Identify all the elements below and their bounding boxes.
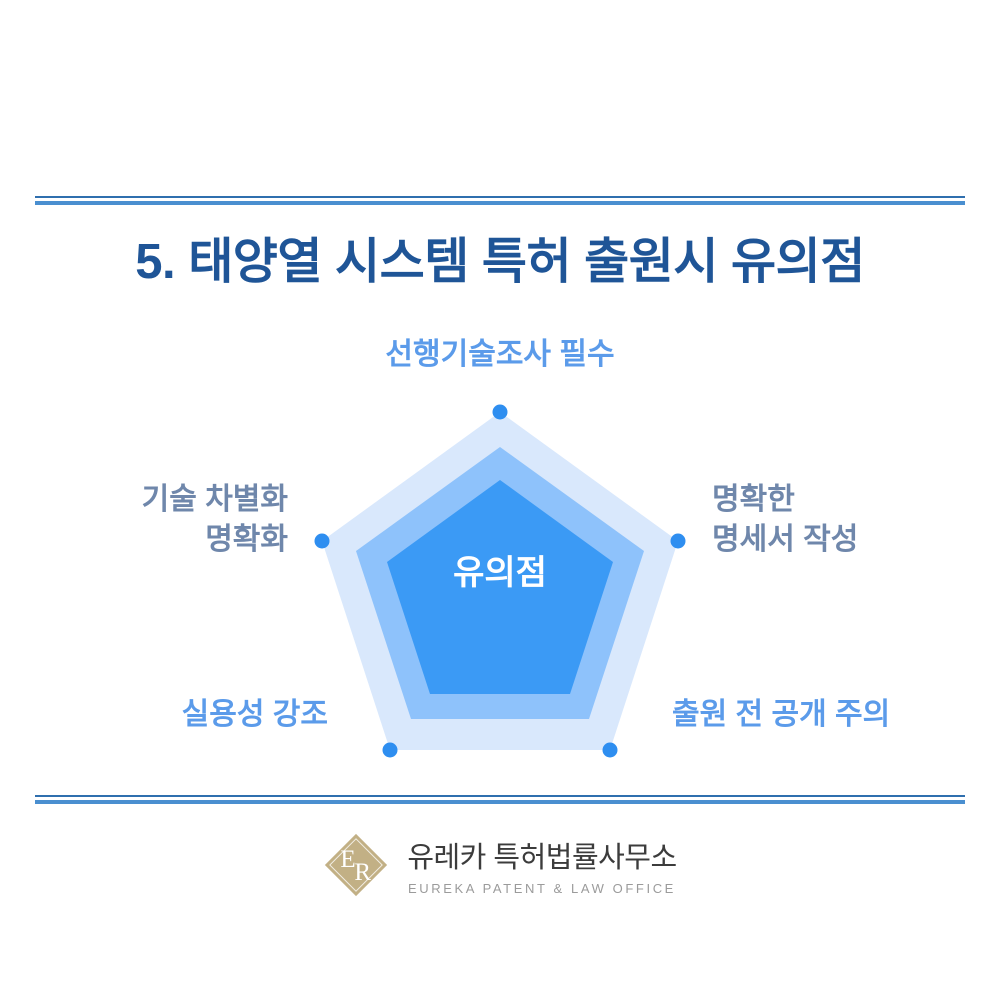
pentagon-vertex-dot-left-top (315, 534, 330, 549)
slide-canvas: 5. 태양열 시스템 특허 출원시 유의점 유의점 선행기술조사 필수 기술 차… (0, 0, 1000, 1000)
node-label-top-text: 선행기술조사 필수 (385, 338, 614, 371)
divider-bottom-thick-line (35, 800, 965, 804)
divider-top-thin-line (35, 196, 965, 198)
node-label-left-bottom-text: 실용성 강조 (182, 698, 328, 731)
pentagon-center-label: 유의점 (380, 545, 620, 594)
node-label-right-top-line1: 명확한 (712, 480, 858, 520)
company-name-en: EUREKA PATENT & LAW OFFICE (408, 881, 676, 896)
node-label-top: 선행기술조사 필수 (0, 335, 1000, 375)
footer-branding: E R 유레카 특허법률사무소 EUREKA PATENT & LAW OFFI… (0, 820, 1000, 910)
divider-bottom-thin-line (35, 795, 965, 797)
divider-top-thick-line (35, 201, 965, 205)
pentagon-vertex-dot-right-top (671, 534, 686, 549)
node-label-right-top-line2: 명세서 작성 (712, 520, 858, 560)
footer-company-text: 유레카 특허법률사무소 EUREKA PATENT & LAW OFFICE (407, 834, 676, 896)
node-label-left-top-line2: 명확화 (142, 520, 288, 560)
node-label-left-top: 기술 차별화 명확화 (142, 480, 288, 559)
page-title: 5. 태양열 시스템 특허 출원시 유의점 (0, 222, 1000, 293)
pentagon-vertex-dot-top (493, 405, 508, 420)
node-label-left-bottom: 실용성 강조 (182, 695, 328, 735)
company-name-ko: 유레카 특허법률사무소 (407, 834, 676, 876)
logo-letter-e: E (340, 847, 355, 872)
eureka-diamond-logo-icon: E R (323, 832, 389, 898)
logo-letter-r: R (354, 860, 371, 885)
divider-bottom (35, 795, 965, 804)
pentagon-vertex-dot-left-bottom (383, 743, 398, 758)
pentagon-vertex-dot-right-bottom (603, 743, 618, 758)
divider-top (35, 196, 965, 205)
node-label-left-top-line1: 기술 차별화 (142, 480, 288, 520)
node-label-right-bottom: 출원 전 공개 주의 (672, 695, 890, 735)
pentagon-diagram: 유의점 선행기술조사 필수 기술 차별화 명확화 명확한 명세서 작성 실용성 … (0, 300, 1000, 780)
node-label-right-top: 명확한 명세서 작성 (712, 480, 858, 559)
node-label-right-bottom-text: 출원 전 공개 주의 (672, 698, 890, 731)
